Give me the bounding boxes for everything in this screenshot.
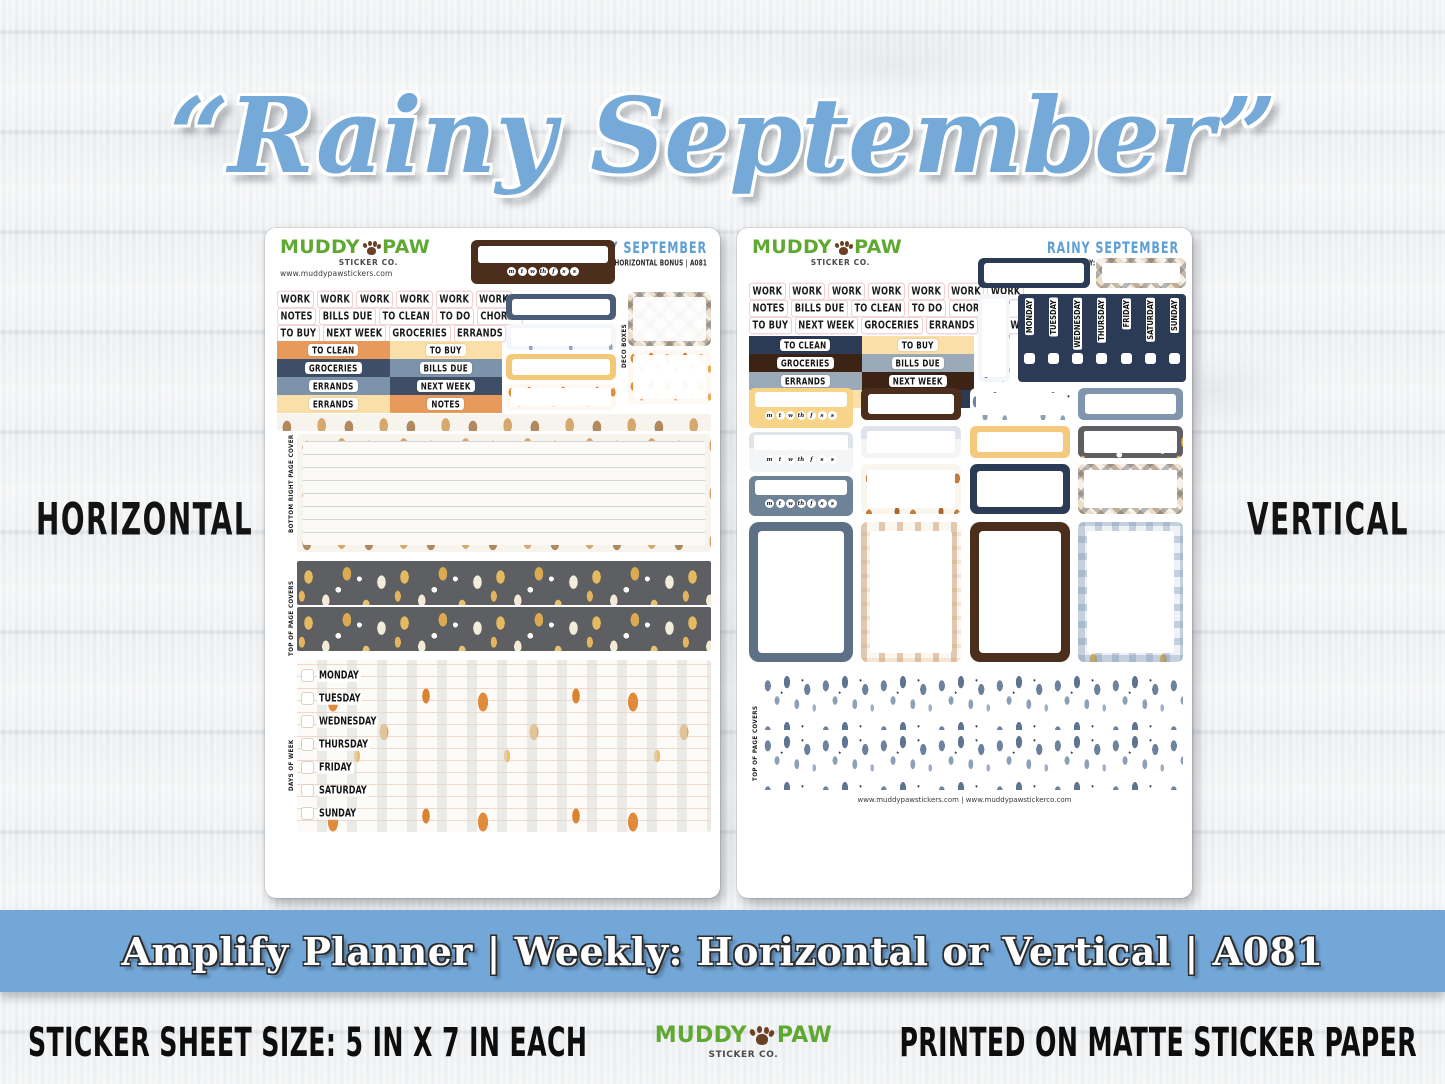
checklist-day-column[interactable]: SATURDAY: [1145, 298, 1156, 378]
color-block-sticker[interactable]: TO CLEAN: [749, 336, 862, 354]
color-block-sticker[interactable]: ERRANDS: [277, 395, 390, 413]
day-of-week-sticker[interactable]: WEDNESDAY: [301, 710, 421, 733]
paw-print-icon: [362, 240, 380, 256]
word-sticker[interactable]: NEXT WEEK: [323, 325, 386, 343]
color-block-label: GROCERIES: [305, 362, 362, 374]
word-sticker[interactable]: WORK: [828, 283, 865, 301]
day-checkbox[interactable]: [301, 692, 314, 705]
day-of-week-label: MONDAY: [317, 670, 361, 682]
day-circle: w: [786, 455, 795, 464]
day-circle: s: [560, 267, 569, 276]
day-of-week-sticker[interactable]: MONDAY: [301, 664, 421, 687]
footer-brand-logo: MUDDY PAW STICKER CO.: [655, 1025, 832, 1060]
footer-paper-type: PRINTED ON MATTE STICKER PAPER: [899, 1019, 1417, 1066]
day-of-week-sticker[interactable]: SUNDAY: [301, 802, 421, 825]
day-checkbox[interactable]: [301, 669, 314, 682]
label-vertical: VERTICAL: [1247, 494, 1409, 546]
daybox-cream[interactable]: mtwthfss: [749, 388, 853, 428]
day-checkbox[interactable]: [301, 738, 314, 751]
word-sticker[interactable]: NOTES: [749, 300, 788, 318]
day-checkbox[interactable]: [301, 807, 314, 820]
strip-darkleaf[interactable]: [1078, 426, 1183, 458]
strip-navy-box[interactable]: [970, 464, 1070, 514]
day-of-week-label: WEDNESDAY: [317, 716, 378, 728]
day-circle: m: [765, 411, 774, 420]
day-circle: th: [797, 455, 806, 464]
page-title: “Rainy September”: [0, 84, 1445, 188]
day-circle: w: [786, 499, 795, 508]
strip-brown[interactable]: [861, 388, 961, 420]
word-sticker[interactable]: ERRANDS: [454, 325, 507, 343]
color-block-label: TO CLEAN: [308, 344, 358, 356]
day-circle: th: [797, 411, 806, 420]
paw-print-icon: [749, 1025, 775, 1047]
color-block-sticker[interactable]: BILLS DUE: [862, 354, 975, 372]
word-sticker[interactable]: TO DO: [436, 308, 473, 326]
day-circle-strip: mtwthfss: [749, 499, 853, 508]
word-sticker[interactable]: NEXT WEEK: [795, 317, 858, 335]
word-sticker[interactable]: TO BUY: [749, 317, 792, 335]
color-block-sticker[interactable]: TO BUY: [862, 336, 975, 354]
checklist-checkbox[interactable]: [1145, 353, 1156, 364]
day-circle: s: [828, 411, 837, 420]
checklist-checkbox[interactable]: [1072, 353, 1083, 364]
header-strip-cream[interactable]: [506, 354, 616, 380]
banner-text: Amplify Planner | Weekly: Horizontal or …: [122, 929, 1324, 974]
word-sticker-grid-horizontal: WORKWORKWORKWORKWORKWORKNOTESBILLS DUETO…: [277, 292, 502, 343]
checklist-day-column[interactable]: SUNDAY: [1169, 298, 1180, 378]
page-footer: STICKER SHEET SIZE: 5 IN X 7 IN EACH MUD…: [0, 1000, 1445, 1084]
day-circle: s: [818, 411, 827, 420]
brand-url: www.muddypawstickers.com: [280, 269, 430, 278]
day-circle: w: [528, 267, 537, 276]
days-of-week-panel[interactable]: MONDAYTUESDAYWEDNESDAYTHURSDAYFRIDAYSATU…: [297, 660, 711, 832]
section-label-top-covers-vertical: TOP OF PAGE COVERS: [752, 706, 759, 781]
strip-rainpattern[interactable]: [970, 388, 1070, 420]
day-circle-strip: mtwthfss: [471, 267, 615, 276]
day-checkbox[interactable]: [301, 784, 314, 797]
day-circle: m: [507, 267, 516, 276]
deco-box-floral[interactable]: [628, 350, 711, 404]
header-strip-plaid[interactable]: [1096, 258, 1186, 288]
day-circle: f: [807, 455, 816, 464]
word-sticker[interactable]: WORK: [789, 283, 826, 301]
brand-name-part1: MUDDY: [752, 238, 832, 257]
day-of-week-sticker[interactable]: FRIDAY: [301, 756, 421, 779]
day-circle: th: [797, 499, 806, 508]
day-circle: f: [807, 499, 816, 508]
color-block-sticker[interactable]: ERRANDS: [277, 377, 390, 395]
day-circle: f: [549, 267, 558, 276]
day-circle: s: [828, 455, 837, 464]
day-circle: th: [539, 267, 548, 276]
day-circle: t: [776, 411, 785, 420]
daybox-slate[interactable]: mtwthfss: [749, 476, 853, 516]
word-sticker[interactable]: TO BUY: [277, 325, 320, 343]
color-block-label: NEXT WEEK: [889, 375, 947, 387]
color-block-label: NEXT WEEK: [417, 380, 475, 392]
product-banner: Amplify Planner | Weekly: Horizontal or …: [0, 910, 1445, 992]
color-block-label: NOTES: [427, 398, 464, 410]
day-circle: t: [776, 455, 785, 464]
day-circle: w: [786, 411, 795, 420]
checklist-day-label: WEDNESDAY: [1073, 298, 1082, 350]
word-sticker[interactable]: WORK: [436, 291, 473, 309]
header-strip-floral[interactable]: [506, 384, 616, 410]
checklist-day-column[interactable]: MONDAY: [1024, 298, 1035, 378]
checklist-checkbox[interactable]: [1096, 353, 1107, 364]
word-sticker[interactable]: BILLS DUE: [791, 300, 848, 318]
rain-cover-strip-2[interactable]: [762, 732, 1183, 790]
word-sticker[interactable]: WORK: [317, 291, 354, 309]
color-block-sticker[interactable]: NOTES: [390, 395, 503, 413]
deco-box-plaid[interactable]: [628, 292, 711, 346]
color-block-label: ERRANDS: [309, 380, 358, 392]
word-sticker[interactable]: BILLS DUE: [319, 308, 376, 326]
section-label-deco-boxes: DECO BOXES: [621, 324, 628, 368]
color-block-label: TO BUY: [898, 339, 938, 351]
washi-strip-floral[interactable]: [277, 414, 711, 431]
color-block-grid-horizontal: TO CLEANTO BUYGROCERIESBILLS DUEERRANDSN…: [277, 341, 502, 413]
day-checkbox[interactable]: [301, 761, 314, 774]
day-circle: t: [776, 499, 785, 508]
checklist-day-label: THURSDAY: [1097, 298, 1106, 343]
section-label-top-covers: TOP OF PAGE COVERS: [288, 581, 295, 656]
day-circle: m: [765, 499, 774, 508]
word-sticker[interactable]: NOTES: [277, 308, 316, 326]
checklist-day-column[interactable]: FRIDAY: [1121, 298, 1132, 378]
day-circle: s: [570, 267, 579, 276]
large-box-stripe[interactable]: [861, 522, 961, 662]
checklist-day-column[interactable]: WEDNESDAY: [1072, 298, 1083, 378]
color-block-sticker[interactable]: GROCERIES: [749, 354, 862, 372]
color-block-label: BILLS DUE: [420, 362, 472, 374]
day-checklist-panel[interactable]: MONDAYTUESDAYWEDNESDAYTHURSDAYFRIDAYSATU…: [1018, 294, 1186, 382]
word-sticker[interactable]: WORK: [908, 283, 945, 301]
checklist-checkbox[interactable]: [1048, 353, 1059, 364]
color-block-label: BILLS DUE: [892, 357, 944, 369]
color-block-label: TO BUY: [426, 344, 466, 356]
footer-brand-part2: PAW: [777, 1025, 832, 1047]
word-sticker-grid-vertical: WORKWORKWORKWORKWORKWORKWORKNOTESBILLS D…: [749, 284, 974, 335]
section-label-days-of-week: DAYS OF WEEK: [288, 739, 295, 791]
footer-sheet-size: STICKER SHEET SIZE: 5 IN X 7 IN EACH: [28, 1019, 587, 1066]
day-circle-strip: mtwthfss: [749, 455, 853, 464]
header-strip-navy-outline[interactable]: [978, 258, 1090, 288]
color-block-sticker[interactable]: TO BUY: [390, 341, 503, 359]
large-box-blueplaid[interactable]: [1078, 522, 1183, 662]
word-sticker[interactable]: WORK: [749, 283, 786, 301]
strip-house[interactable]: [861, 426, 961, 458]
page-cover-strip-2[interactable]: [297, 607, 711, 651]
word-sticker[interactable]: GROCERIES: [389, 325, 451, 343]
checklist-checkbox[interactable]: [1024, 353, 1035, 364]
day-of-week-label: SUNDAY: [317, 808, 358, 820]
word-sticker[interactable]: TO DO: [908, 300, 945, 318]
header-strip-navy[interactable]: [506, 294, 616, 320]
checklist-day-column[interactable]: THURSDAY: [1096, 298, 1107, 378]
color-block-label: TO CLEAN: [780, 339, 830, 351]
day-circle: s: [818, 499, 827, 508]
checklist-day-label: SUNDAY: [1170, 298, 1179, 333]
large-box-slate[interactable]: [749, 522, 853, 662]
day-checkbox[interactable]: [301, 715, 314, 728]
color-block-label: ERRANDS: [309, 398, 358, 410]
word-sticker[interactable]: WORK: [868, 283, 905, 301]
day-circle: m: [765, 455, 774, 464]
brand-name-part2: PAW: [854, 238, 902, 257]
checklist-day-label: SATURDAY: [1146, 298, 1155, 342]
day-of-week-sticker[interactable]: THURSDAY: [301, 733, 421, 756]
label-horizontal: HORIZONTAL: [36, 494, 253, 546]
checklist-day-label: FRIDAY: [1122, 298, 1131, 329]
brand-logo: MUDDY PAW STICKER CO. www.muddypawsticke…: [280, 238, 430, 278]
tall-strip-rain[interactable]: [978, 294, 1010, 382]
brand-tagline: STICKER CO.: [752, 258, 870, 267]
color-block-sticker[interactable]: BILLS DUE: [390, 359, 503, 377]
color-block-sticker[interactable]: GROCERIES: [277, 359, 390, 377]
strip-plaid-box[interactable]: [1078, 464, 1183, 514]
checklist-checkbox[interactable]: [1121, 353, 1132, 364]
word-sticker[interactable]: TO CLEAN: [379, 308, 433, 326]
strip-cream-outline[interactable]: [970, 426, 1070, 458]
day-of-week-label: SATURDAY: [317, 785, 369, 797]
brand-name-part1: MUDDY: [280, 238, 360, 257]
day-circle: s: [818, 455, 827, 464]
color-block-sticker[interactable]: TO CLEAN: [277, 341, 390, 359]
checklist-day-label: MONDAY: [1025, 298, 1034, 335]
day-of-week-sticker[interactable]: TUESDAY: [301, 687, 421, 710]
day-of-week-label: FRIDAY: [317, 762, 354, 774]
sticker-sheet-horizontal[interactable]: MUDDY PAW STICKER CO. www.muddypawsticke…: [265, 228, 720, 898]
color-block-label: GROCERIES: [777, 357, 834, 369]
day-circle: f: [807, 411, 816, 420]
day-circle: s: [828, 499, 837, 508]
checklist-day-column[interactable]: TUESDAY: [1048, 298, 1059, 378]
brand-tagline: STICKER CO.: [280, 258, 398, 267]
day-circle: t: [518, 267, 527, 276]
daybox-house[interactable]: mtwthfss: [749, 432, 853, 472]
word-sticker[interactable]: WORK: [277, 291, 314, 309]
sheet-title: RAINY SEPTEMBER: [998, 238, 1179, 257]
brand-name-part2: PAW: [382, 238, 430, 257]
rain-cover-strip-1[interactable]: [762, 672, 1183, 730]
footer-brand-tagline: STICKER CO.: [655, 1050, 832, 1060]
page-cover-strip-1[interactable]: [297, 561, 711, 605]
checklist-day-label: TUESDAY: [1049, 298, 1058, 337]
checklist-checkbox[interactable]: [1169, 353, 1180, 364]
day-of-week-label: THURSDAY: [317, 739, 370, 751]
paw-print-icon: [834, 240, 852, 256]
strip-acorn[interactable]: [861, 464, 961, 514]
word-sticker[interactable]: GROCERIES: [861, 317, 923, 335]
word-sticker[interactable]: WORK: [356, 291, 393, 309]
color-block-label: ERRANDS: [781, 375, 830, 387]
day-of-week-sticker[interactable]: SATURDAY: [301, 779, 421, 802]
large-box-brown[interactable]: [970, 522, 1070, 662]
day-of-week-label: TUESDAY: [317, 693, 362, 705]
footer-brand-part1: MUDDY: [655, 1025, 747, 1047]
lined-note-cover[interactable]: [297, 434, 711, 552]
word-sticker[interactable]: WORK: [396, 291, 433, 309]
day-circle-strip: mtwthfss: [749, 411, 853, 420]
sticker-sheet-vertical[interactable]: MUDDY PAW STICKER CO. RAINY SEPTEMBER AM…: [737, 228, 1192, 898]
header-strip-rain[interactable]: [506, 324, 616, 350]
brand-logo-vertical: MUDDY PAW STICKER CO.: [752, 238, 902, 267]
word-sticker[interactable]: TO CLEAN: [851, 300, 905, 318]
strip-slate-outline[interactable]: [1078, 388, 1183, 420]
title-banner: “Rainy September”: [0, 84, 1445, 188]
header-box-brown[interactable]: mtwthfss: [471, 240, 615, 284]
sheet-footer-urls: www.muddypawstickers.com | www.muddypaws…: [746, 796, 1183, 804]
color-block-sticker[interactable]: NEXT WEEK: [390, 377, 503, 395]
section-label-bottom-right-cover: BOTTOM RIGHT PAGE COVER: [288, 434, 295, 533]
word-sticker[interactable]: ERRANDS: [926, 317, 979, 335]
